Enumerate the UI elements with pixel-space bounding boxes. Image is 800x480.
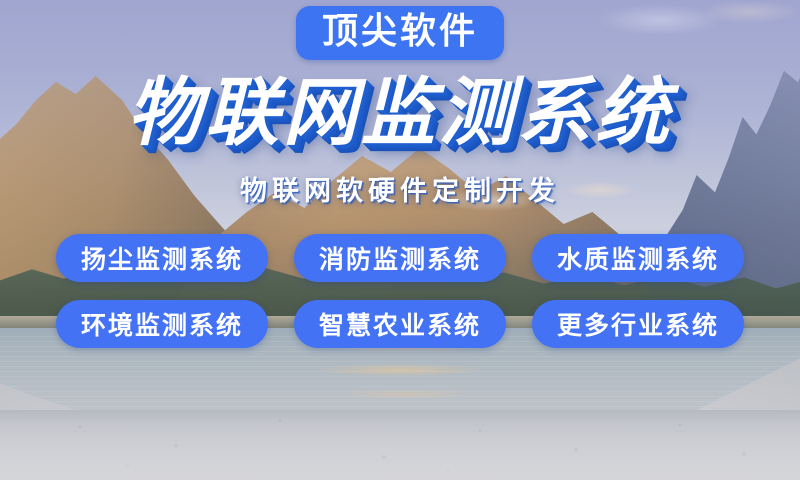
category-pill-row: 扬尘监测系统 消防监测系统 水质监测系统 xyxy=(56,234,744,282)
banner-content: 顶尖软件 物联网监测系统 物联网软硬件定制开发 扬尘监测系统 消防监测系统 水质… xyxy=(0,0,800,480)
page-title: 物联网监测系统 xyxy=(127,72,673,155)
brand-badge[interactable]: 顶尖软件 xyxy=(296,6,504,60)
pill-fire-monitoring[interactable]: 消防监测系统 xyxy=(294,234,506,282)
promo-banner: 顶尖软件 物联网监测系统 物联网软硬件定制开发 扬尘监测系统 消防监测系统 水质… xyxy=(0,0,800,480)
category-pill-group: 扬尘监测系统 消防监测系统 水质监测系统 环境监测系统 智慧农业系统 更多行业系… xyxy=(56,234,744,348)
pill-dust-monitoring[interactable]: 扬尘监测系统 xyxy=(56,234,268,282)
page-subtitle: 物联网软硬件定制开发 xyxy=(240,169,560,208)
pill-environment-monitoring[interactable]: 环境监测系统 xyxy=(56,300,268,348)
pill-water-quality-monitoring[interactable]: 水质监测系统 xyxy=(532,234,744,282)
pill-smart-agriculture[interactable]: 智慧农业系统 xyxy=(294,300,506,348)
pill-more-industry-systems[interactable]: 更多行业系统 xyxy=(532,300,744,348)
category-pill-row: 环境监测系统 智慧农业系统 更多行业系统 xyxy=(56,300,744,348)
